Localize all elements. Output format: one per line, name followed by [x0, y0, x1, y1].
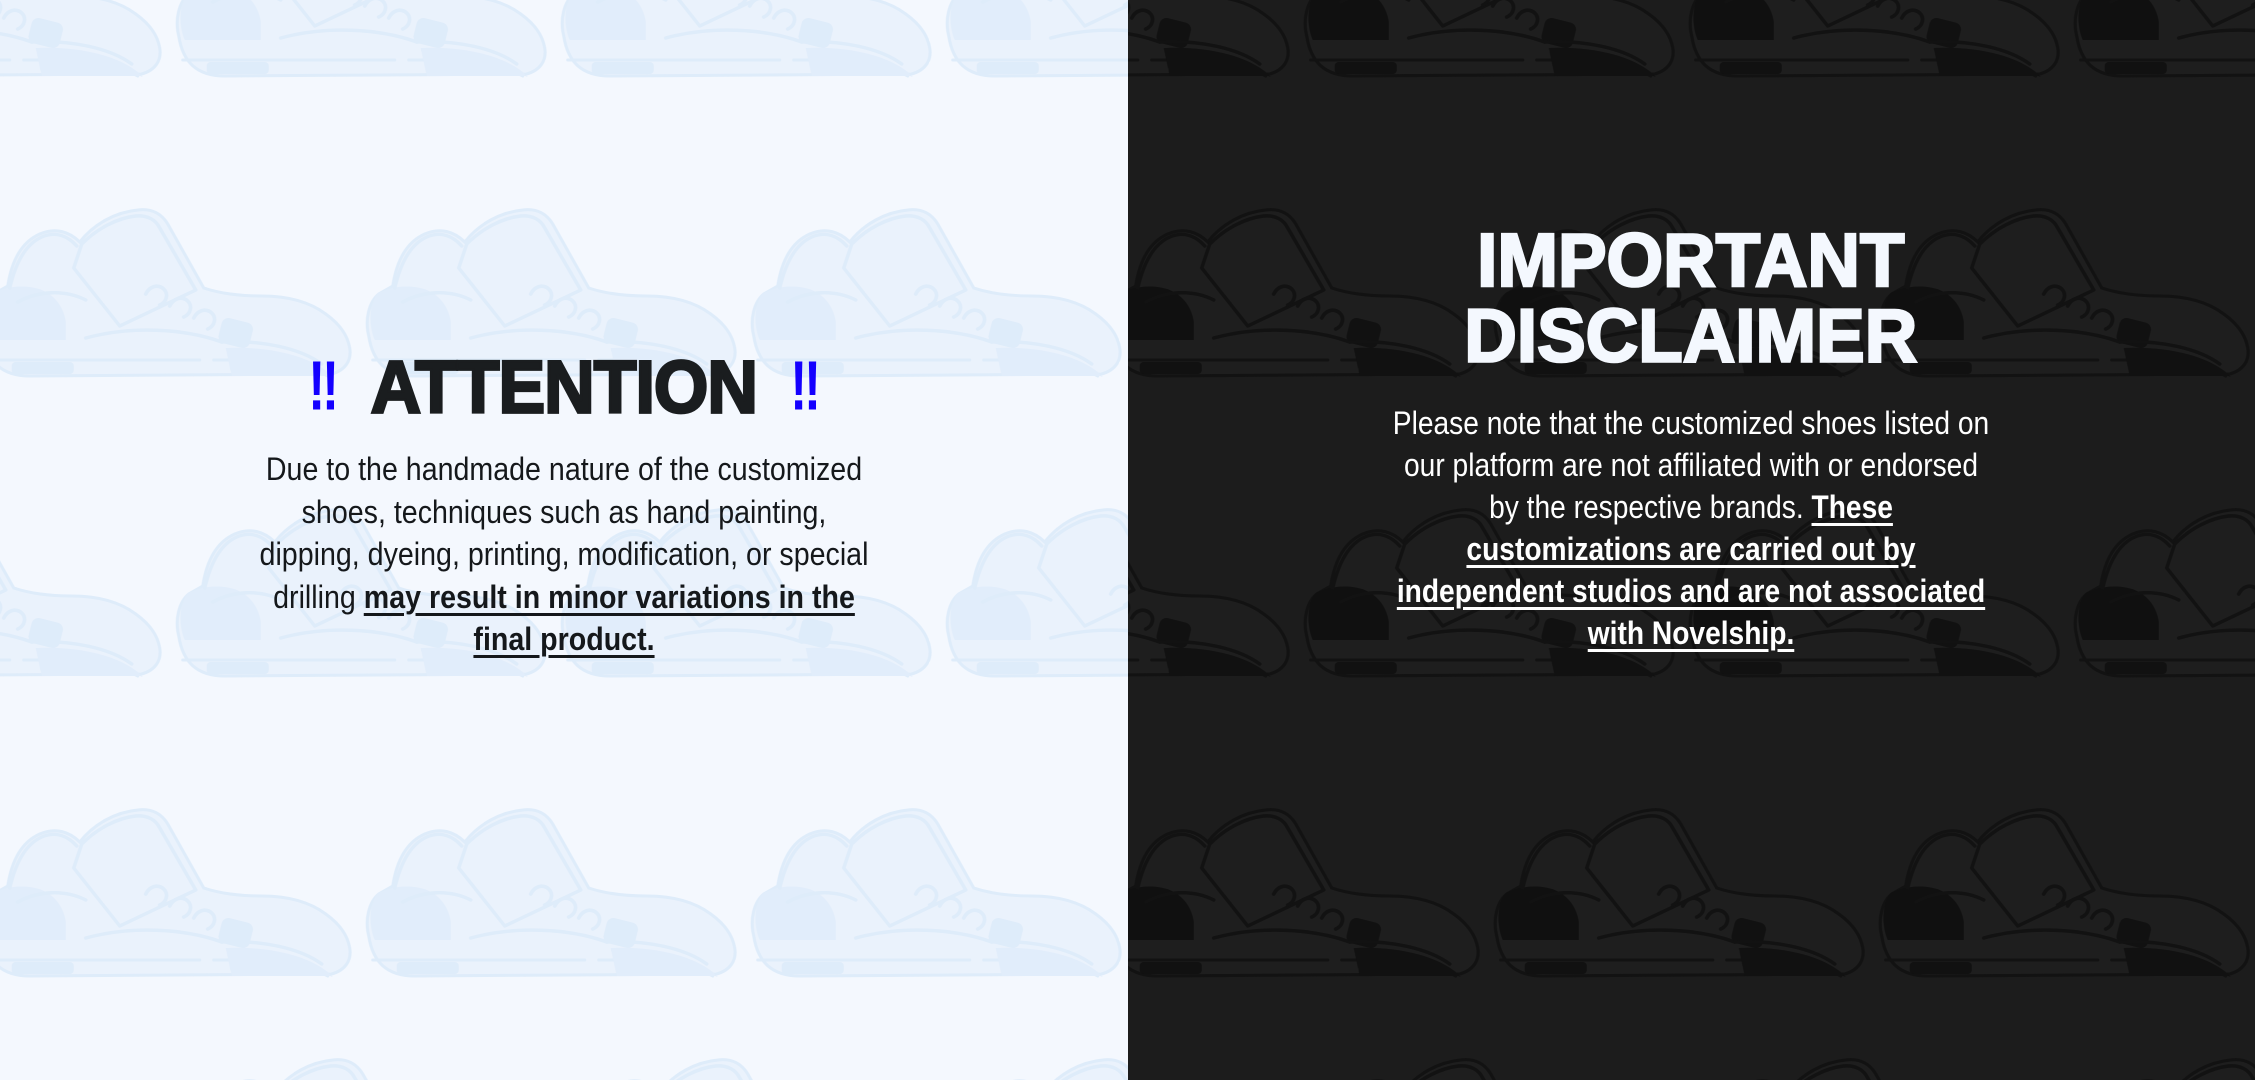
attention-heading: ‼ ATTENTION ‼	[305, 352, 822, 422]
disclaimer-body-normal: Please note that the customized shoes li…	[1393, 405, 1989, 525]
disclaimer-heading-line-2: DISCLAIMER	[1465, 298, 1918, 374]
attention-content: ‼ ATTENTION ‼ Due to the handmade nature…	[0, 0, 1128, 661]
attention-title: ATTENTION	[371, 350, 757, 424]
disclaimer-banner: ‼ ATTENTION ‼ Due to the handmade nature…	[0, 0, 2255, 1080]
disclaimer-body: Please note that the customized shoes li…	[1392, 402, 1990, 654]
attention-body-emphasis: may result in minor variations in the fi…	[364, 579, 855, 658]
disclaimer-heading-line-1: IMPORTANT	[1465, 222, 1918, 298]
disclaimer-heading: IMPORTANT DISCLAIMER	[1465, 222, 1918, 373]
double-exclamation-right-icon: ‼	[790, 352, 819, 421]
disclaimer-content: IMPORTANT DISCLAIMER Please note that th…	[1128, 0, 2255, 654]
double-exclamation-left-icon: ‼	[308, 352, 337, 421]
attention-body: Due to the handmade nature of the custom…	[256, 448, 872, 661]
attention-panel: ‼ ATTENTION ‼ Due to the handmade nature…	[0, 0, 1128, 1080]
disclaimer-panel: IMPORTANT DISCLAIMER Please note that th…	[1128, 0, 2255, 1080]
